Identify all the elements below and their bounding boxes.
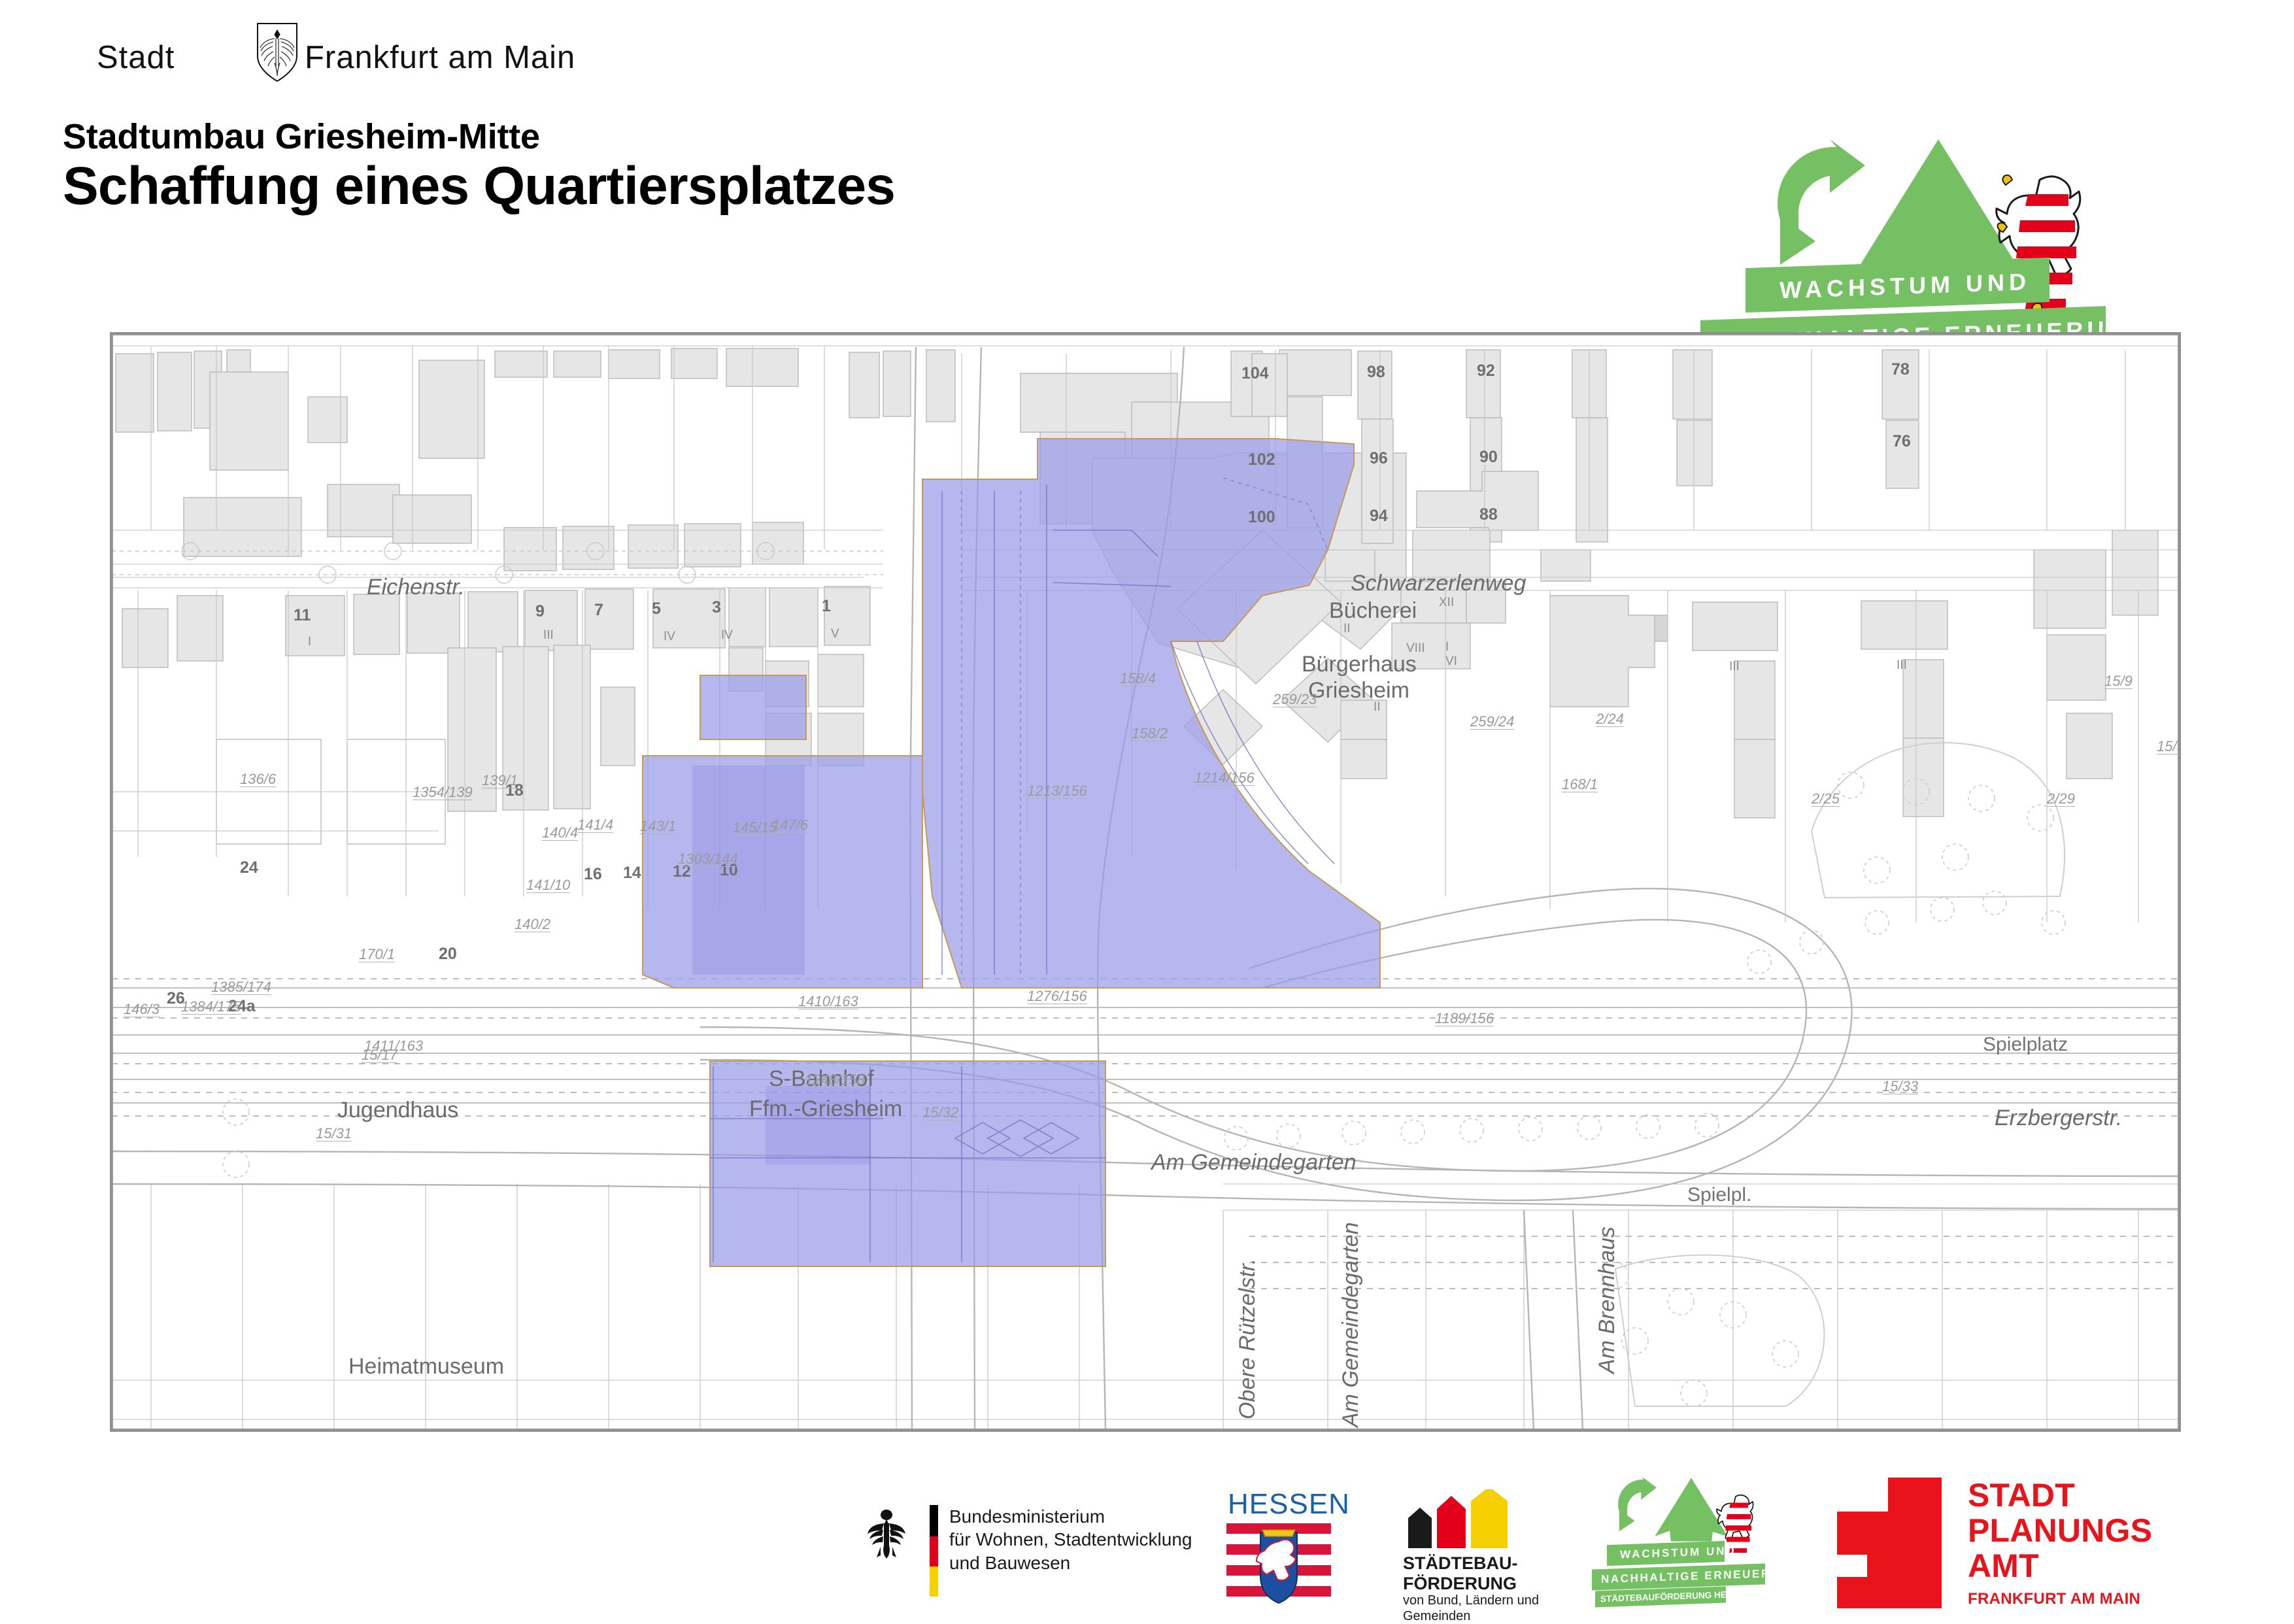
program-logo-small-band-2: NACHHALTIGE ERNEUERUNG	[1592, 1563, 1765, 1590]
parcel-number: 1276/156	[1027, 989, 1087, 1004]
bmwsb-line1: Bundesministerium	[949, 1505, 1192, 1528]
floor-label: III	[1729, 660, 1740, 674]
parcel-number: 146/3	[124, 1002, 160, 1017]
parcel-number: 15/32	[922, 1106, 958, 1121]
floor-label: I	[1445, 640, 1449, 654]
poi-label-buergerhaus: Bürgerhaus	[1302, 652, 1417, 677]
program-logo-small-band-1: WACHSTUM UND	[1607, 1541, 1725, 1566]
floor-label: III	[1897, 658, 1907, 673]
parcel-number: 1214/156	[1194, 771, 1255, 786]
poi-label-spielpl: Spielpl.	[1687, 1184, 1751, 1206]
street-label-am-brennhaus: Am Brennhaus	[1594, 1226, 1620, 1374]
street-label-schwarzerlenweg: Schwarzerlenweg	[1351, 571, 1526, 596]
poi-label-jugendhaus: Jugendhaus	[337, 1098, 458, 1123]
parcel-number: 145/15	[733, 820, 777, 836]
floor-label: IV	[664, 630, 675, 644]
program-logo-small: WACHSTUM UND NACHHALTIGE ERNEUERUNG STÄD…	[1595, 1464, 1811, 1621]
parcel-number: 147/6	[772, 818, 808, 833]
staedtebaufoerderung-line1: STÄDTEBAU-	[1403, 1553, 1518, 1574]
page-title: Schaffung eines Quartiersplatzes	[63, 156, 895, 217]
parcel-number: 1189/156	[1435, 1011, 1494, 1026]
parcel-number: 15/9	[2104, 674, 2133, 689]
street-label-obere-ruetzelstr: Obere Rützelstr.	[1235, 1259, 1260, 1419]
parcel-number: 139/1	[482, 773, 518, 788]
parcel-number: 136/6	[240, 772, 276, 787]
poi-label-griesheim: Griesheim	[1308, 678, 1409, 703]
floor-label: II	[1374, 700, 1381, 715]
staedtebaufoerderung-line2: FÖRDERUNG	[1403, 1574, 1518, 1594]
house-number: 92	[1477, 362, 1495, 381]
funding-logos-bar: Bundesministerium für Wohnen, Stadtentwi…	[0, 1464, 2294, 1621]
floor-label: IV	[721, 628, 733, 643]
program-logo-small-line2: NACHHALTIGE ERNEUERUNG	[1601, 1566, 1800, 1586]
house-number: 9	[535, 602, 545, 621]
parcel-number: 1384/175	[181, 1000, 241, 1015]
map-drawing	[112, 334, 2179, 1430]
parcel-number: 15/33	[1882, 1079, 1918, 1094]
parcel-number: 259/24	[1470, 715, 1514, 730]
bmwsb-logo: Bundesministerium für Wohnen, Stadtentwi…	[863, 1464, 1190, 1621]
program-logo-line1: WACHSTUM UND	[1780, 268, 2031, 304]
federal-eagle-icon	[866, 1508, 907, 1559]
program-logo-small-line3: STÄDTEBAUFÖRDERUNG HESSEN	[1600, 1589, 1751, 1604]
three-houses-icon	[1404, 1489, 1515, 1548]
house-number: 20	[439, 945, 457, 964]
house-number: 90	[1479, 448, 1498, 467]
house-number: 96	[1370, 449, 1388, 468]
stadtplanungsamt-mark-icon	[1837, 1478, 1942, 1608]
house-number: 94	[1370, 507, 1388, 526]
house-number: 11	[294, 606, 311, 625]
house-number: 7	[594, 601, 603, 620]
hessen-flag-icon	[1226, 1523, 1331, 1608]
house-number: 102	[1248, 450, 1275, 469]
poi-label-buecherei: Bücherei	[1329, 598, 1417, 624]
house-number: 88	[1479, 505, 1498, 524]
staedtebaufoerderung-logo: STÄDTEBAU- FÖRDERUNG von Bund, Ländern u…	[1391, 1464, 1600, 1621]
street-label-eichenstr: Eichenstr.	[367, 575, 465, 600]
staedtebaufoerderung-sub2: Gemeinden	[1403, 1608, 1539, 1624]
staedtebaufoerderung-sub1: von Bund, Ländern und	[1403, 1593, 1539, 1608]
city-logo-text-frankfurt: Frankfurt am Main	[305, 39, 575, 76]
floor-label: VIII	[1406, 641, 1425, 656]
house-number: 100	[1248, 508, 1275, 527]
parcel-number: 1248/158	[805, 1073, 865, 1088]
parcel-number: 1410/163	[798, 994, 858, 1009]
parcel-number: 158/4	[1120, 671, 1156, 686]
floor-label: I	[308, 635, 311, 649]
house-number: 5	[652, 600, 661, 618]
house-number: 14	[623, 864, 641, 883]
parcel-number: 15/30	[2157, 739, 2181, 754]
spa-line2: PLANUNGS	[1968, 1513, 2152, 1548]
program-logo-small-line1: WACHSTUM UND	[1620, 1544, 1736, 1561]
street-label-erzbergerstr: Erzbergerstr.	[1995, 1106, 2122, 1131]
street-label-am-gemeindegarten: Am Gemeindegarten	[1151, 1150, 1357, 1176]
parcel-number: 2/24	[1596, 712, 1624, 727]
hessen-logo: HESSEN	[1215, 1464, 1345, 1621]
parcel-number: 2/29	[2047, 792, 2075, 807]
frankfurt-eagle-icon	[255, 22, 299, 82]
page-header: Stadt Frankfurt am Main Stadtumbau Gries…	[0, 0, 2294, 307]
parcel-number: 140/2	[514, 917, 550, 932]
parcel-number: 259/23	[1273, 692, 1317, 707]
house-number: 98	[1367, 363, 1385, 382]
street-label-am-gemeindegarten-vertical: Am Gemeindegarten	[1338, 1222, 1364, 1427]
house-number: 24	[240, 858, 258, 877]
parcel-number: 1303/144	[678, 852, 738, 867]
flag-stripe-red	[930, 1536, 938, 1566]
floor-label: V	[831, 627, 839, 641]
floor-label: II	[1343, 622, 1351, 636]
project-subtitle: Stadtumbau Griesheim-Mitte	[63, 116, 540, 157]
parcel-number: 1213/156	[1027, 784, 1087, 799]
parcel-number: 158/2	[1132, 726, 1168, 741]
spa-line3: AMT	[1968, 1548, 2152, 1583]
flag-stripe-black	[930, 1505, 938, 1536]
city-logo-text-stadt: Stadt	[97, 39, 175, 76]
staedtebaufoerderung-subtitle: von Bund, Ländern und Gemeinden	[1403, 1593, 1539, 1624]
parcel-number: 15/31	[316, 1126, 352, 1142]
cadastral-map[interactable]: Eichenstr. Schwarzerlenweg Am Gemeindega…	[110, 332, 2181, 1432]
floor-label: VI	[1445, 654, 1457, 669]
parcel-number: 140/4	[542, 826, 578, 841]
parcel-number: 1385/174	[211, 980, 271, 995]
house-number: 76	[1893, 432, 1911, 451]
parcel-number: 141/10	[526, 878, 570, 893]
bmwsb-text: Bundesministerium für Wohnen, Stadtentwi…	[949, 1505, 1192, 1574]
parcel-number: 15/17	[362, 1048, 397, 1063]
floor-label: XII	[1439, 596, 1454, 610]
house-number: 78	[1891, 360, 1910, 379]
staedtebaufoerderung-title: STÄDTEBAU- FÖRDERUNG	[1403, 1553, 1518, 1595]
parcel-number: 143/1	[640, 819, 676, 834]
stadtplanungsamt-logo: STADT PLANUNGS AMT FRANKFURT AM MAIN	[1837, 1464, 2177, 1621]
poi-label-ffm-griesheim: Ffm.-Griesheim	[749, 1096, 902, 1122]
poi-label-heimatmuseum: Heimatmuseum	[348, 1354, 504, 1379]
parcel-number: 168/1	[1562, 777, 1598, 792]
city-of-frankfurt-logo: Stadt Frankfurt am Main	[97, 37, 515, 81]
bmwsb-line2: für Wohnen, Stadtentwicklung	[949, 1528, 1192, 1551]
house-number: 104	[1241, 364, 1269, 383]
parcel-number: 1354/139	[413, 785, 473, 800]
parcel-number: 2/25	[1812, 792, 1840, 807]
parcel-number: 170/1	[359, 947, 395, 962]
house-number: 16	[584, 865, 602, 884]
poi-label-spielplatz: Spielplatz	[1983, 1034, 2068, 1056]
bmwsb-line3: und Bauwesen	[949, 1551, 1192, 1574]
floor-label: III	[543, 628, 554, 643]
flag-stripe-gold	[930, 1566, 938, 1597]
hessen-wordmark: HESSEN	[1228, 1488, 1350, 1521]
spa-line4: FRANKFURT AM MAIN	[1968, 1590, 2140, 1608]
spa-line1: STADT	[1968, 1478, 2152, 1513]
parcel-number: 141/4	[577, 818, 613, 833]
stadtplanungsamt-wordmark: STADT PLANUNGS AMT	[1968, 1478, 2152, 1583]
house-number: 3	[712, 598, 721, 617]
house-number: 1	[822, 597, 831, 616]
